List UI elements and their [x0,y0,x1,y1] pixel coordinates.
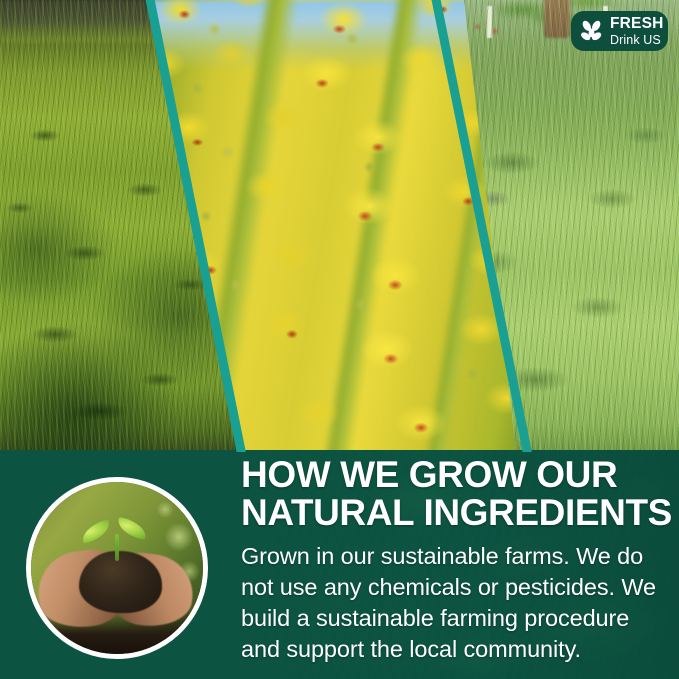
product-infographic: HOW WE GROW OUR NATURAL INGREDIENTS Grow… [0,0,679,679]
body-line-2: not use any chemicals or pesticides. We [241,572,665,603]
leaf-cluster-icon [578,18,605,45]
body-line-1: Grown in our sustainable farms. We do [241,541,665,572]
sprout-stem [115,534,119,562]
body-line-4: and support the local community. [241,634,665,665]
fresh-drink-us-logo: FRESH Drink US [571,11,668,51]
body-line-3: build a sustainable farming procedure [241,603,665,634]
headline-line-2: NATURAL INGREDIENTS [241,494,665,532]
hands-holding-seedling-photo [26,477,208,659]
feature-text-block: HOW WE GROW OUR NATURAL INGREDIENTS Grow… [241,456,665,665]
soil-mound [79,551,162,613]
photo-strip [0,0,679,452]
headline-line-1: HOW WE GROW OUR [241,456,665,494]
page-title: HOW WE GROW OUR NATURAL INGREDIENTS [241,456,665,532]
logo-line-drink-us: Drink US [610,34,664,47]
logo-line-fresh: FRESH [610,16,664,32]
body-copy: Grown in our sustainable farms. We do no… [241,541,665,665]
logo-wordmark: FRESH Drink US [610,16,664,46]
